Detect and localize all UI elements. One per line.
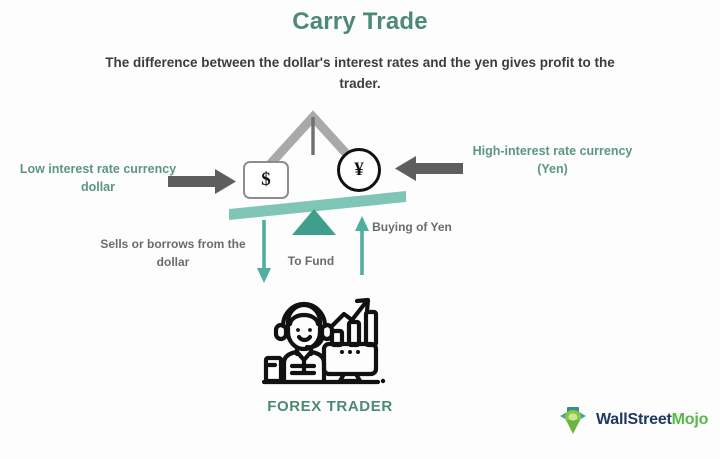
dollar-currency-box: $ [243, 161, 289, 199]
logo-text-mojo: Mojo [672, 411, 709, 428]
caption-buying-of-yen: Buying of Yen [370, 218, 454, 236]
infographic-canvas: Carry Trade The difference between the d… [0, 0, 720, 459]
logo-text: WallStreetMojo [596, 411, 708, 429]
wallstreetmojo-bull-icon [556, 403, 590, 437]
yen-currency-circle: ¥ [337, 148, 381, 192]
dollar-symbol: $ [261, 169, 271, 191]
wallstreetmojo-logo[interactable]: WallStreetMojo [556, 400, 706, 440]
logo-text-wallstreet: WallStreet [596, 411, 672, 428]
arrow-up-icon [355, 216, 369, 275]
caption-sells-or-borrows: Sells or borrows from the dollar [98, 235, 248, 271]
yen-symbol: ¥ [354, 159, 364, 181]
triangle-fulcrum-icon [292, 209, 336, 235]
caption-to-fund: To Fund [272, 252, 350, 270]
page-title: Carry Trade [0, 8, 720, 36]
arrow-left-icon [395, 156, 463, 181]
forex-trader-icon [262, 284, 388, 390]
page-subtitle: The difference between the dollar's inte… [100, 53, 620, 95]
forex-trader-label: FOREX TRADER [230, 398, 430, 415]
arrow-right-icon [168, 169, 236, 194]
right-caption-high-interest: High-interest rate currency (Yen) [470, 142, 635, 178]
arrow-down-icon [257, 220, 271, 283]
left-caption-low-interest: Low interest rate currency dollar [18, 160, 178, 196]
